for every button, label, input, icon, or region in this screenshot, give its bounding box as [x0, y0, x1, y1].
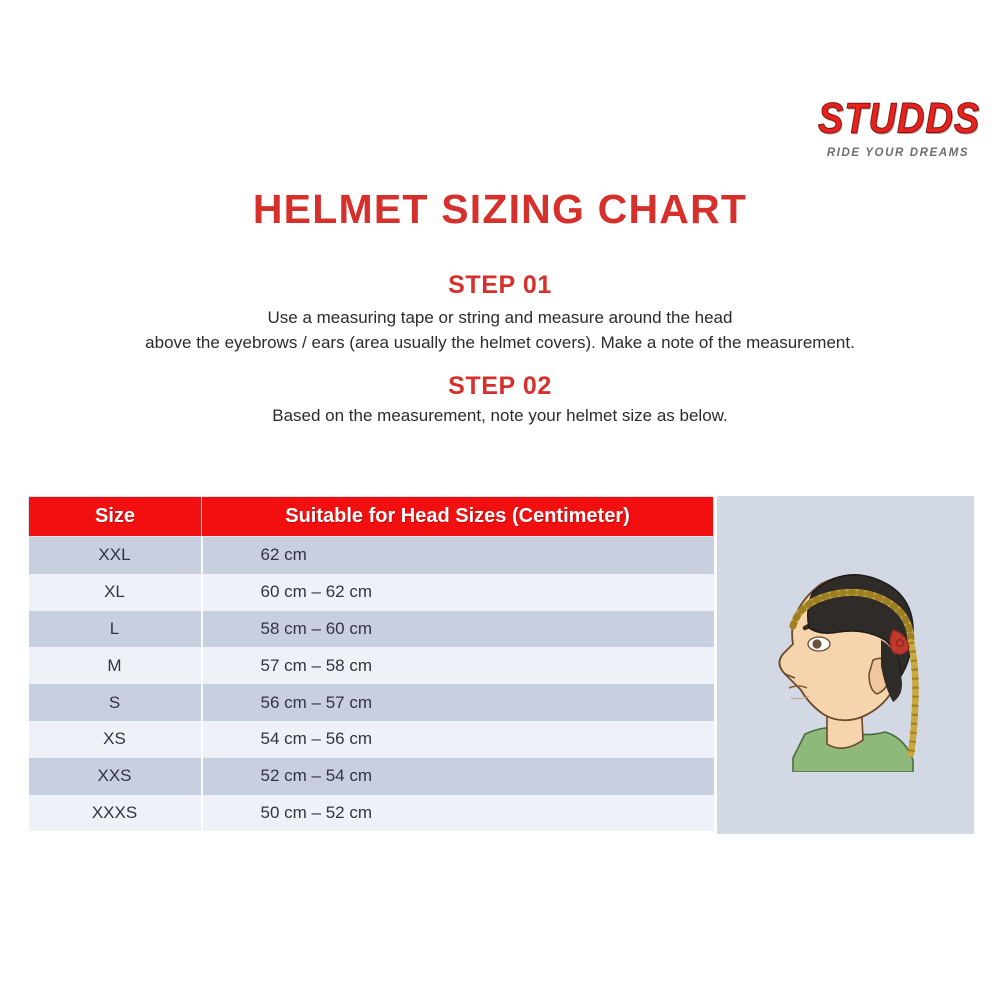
- brand-tagline: RIDE YOUR DREAMS: [818, 147, 978, 159]
- step-02-body: Based on the measurement, note your helm…: [0, 404, 1000, 429]
- table-row: L 58 cm – 60 cm: [29, 611, 714, 648]
- table-row: XXXS 50 cm – 52 cm: [29, 795, 714, 832]
- step-01-line-1: Use a measuring tape or string and measu…: [0, 306, 1000, 331]
- table-row: XL 60 cm – 62 cm: [29, 574, 714, 611]
- step-02-line-1: Based on the measurement, note your helm…: [0, 404, 1000, 429]
- cell-head-size-range: 50 cm – 52 cm: [202, 795, 714, 832]
- column-header-head-sizes: Suitable for Head Sizes (Centimeter): [202, 497, 714, 537]
- head-measurement-illustration: [735, 548, 955, 772]
- cell-head-size-range: 52 cm – 54 cm: [202, 758, 714, 795]
- cell-size: XS: [29, 721, 202, 758]
- iris: [812, 639, 821, 648]
- step-02-heading: STEP 02: [0, 372, 1000, 401]
- helmet-sizing-chart-page: STUDDS RIDE YOUR DREAMS HELMET SIZING CH…: [0, 0, 1000, 1000]
- cell-size: S: [29, 684, 202, 721]
- size-table: Size Suitable for Head Sizes (Centimeter…: [28, 496, 714, 831]
- cell-head-size-range: 62 cm: [202, 537, 714, 574]
- step-01-heading: STEP 01: [0, 271, 1000, 300]
- cell-size: M: [29, 647, 202, 684]
- cell-head-size-range: 60 cm – 62 cm: [202, 574, 714, 611]
- cell-size: XXS: [29, 758, 202, 795]
- tape-tail: [911, 642, 916, 754]
- table-row: S 56 cm – 57 cm: [29, 684, 714, 721]
- cell-size: XXL: [29, 537, 202, 574]
- cell-size: XL: [29, 574, 202, 611]
- cell-size: XXXS: [29, 795, 202, 832]
- step-01-body: Use a measuring tape or string and measu…: [0, 306, 1000, 355]
- cell-head-size-range: 56 cm – 57 cm: [202, 684, 714, 721]
- cell-head-size-range: 54 cm – 56 cm: [202, 721, 714, 758]
- sizing-chart-area: Size Suitable for Head Sizes (Centimeter…: [28, 496, 974, 834]
- step-01-line-2: above the eyebrows / ears (area usually …: [0, 331, 1000, 356]
- illustration-panel: [717, 496, 974, 834]
- brand-wordmark: STUDDS: [818, 98, 978, 141]
- column-header-size: Size: [29, 497, 202, 537]
- size-table-header: Size Suitable for Head Sizes (Centimeter…: [29, 497, 714, 537]
- page-title: HELMET SIZING CHART: [0, 186, 1000, 233]
- table-row: XS 54 cm – 56 cm: [29, 721, 714, 758]
- table-row: XXS 52 cm – 54 cm: [29, 758, 714, 795]
- table-row: M 57 cm – 58 cm: [29, 647, 714, 684]
- size-table-body: XXL 62 cm XL 60 cm – 62 cm L 58 cm – 60 …: [29, 537, 714, 832]
- table-header-row: Size Suitable for Head Sizes (Centimeter…: [29, 497, 714, 537]
- brand-logo: STUDDS RIDE YOUR DREAMS: [818, 98, 978, 159]
- cell-head-size-range: 58 cm – 60 cm: [202, 611, 714, 648]
- cell-head-size-range: 57 cm – 58 cm: [202, 647, 714, 684]
- cell-size: L: [29, 611, 202, 648]
- table-row: XXL 62 cm: [29, 537, 714, 574]
